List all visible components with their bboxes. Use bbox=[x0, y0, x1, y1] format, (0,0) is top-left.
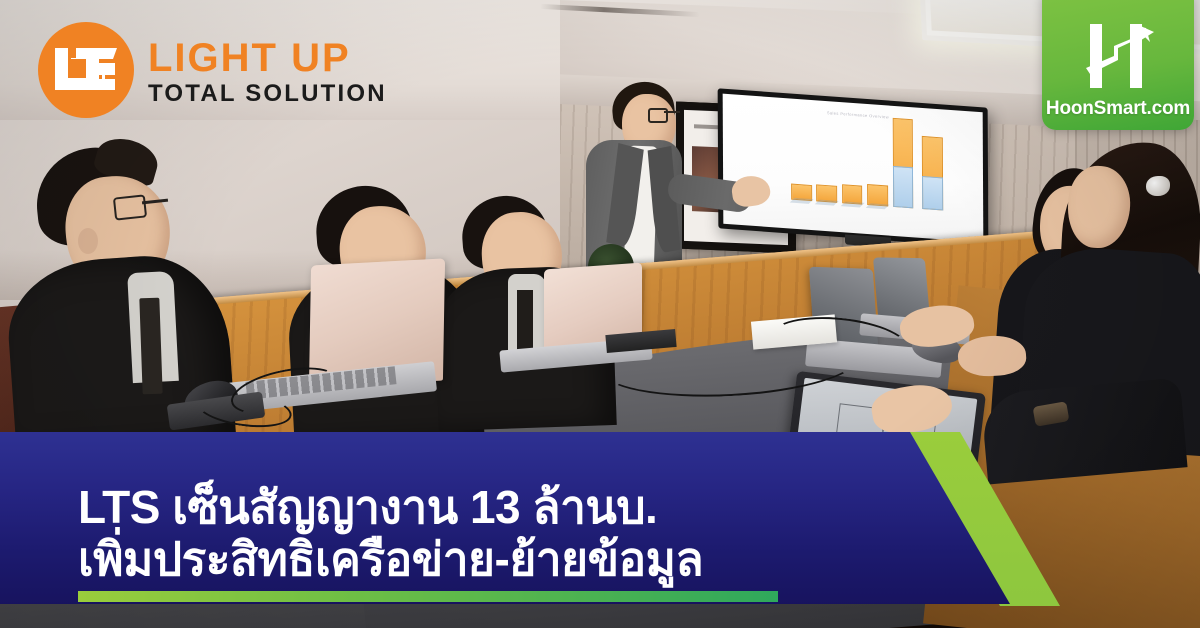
lts-title: LIGHT UP bbox=[148, 38, 387, 78]
bar-blue-5 bbox=[892, 166, 913, 209]
presenter-glasses bbox=[648, 108, 680, 120]
tv-bar-chart bbox=[790, 106, 972, 213]
lts-logo-circle bbox=[38, 22, 134, 118]
lts-monogram-icon bbox=[53, 46, 119, 94]
bar-orange-1 bbox=[791, 183, 812, 201]
bar-orange-3 bbox=[842, 184, 863, 205]
wall-mounted-tv: Sales Performance Overview bbox=[718, 88, 989, 247]
tv-screen: Sales Performance Overview bbox=[723, 94, 984, 243]
lts-light-up-logo: LIGHT UP TOTAL SOLUTION bbox=[38, 22, 387, 118]
bar-blue-6 bbox=[922, 176, 943, 211]
person1-ear bbox=[78, 228, 98, 254]
headline-banner: LTS เซ็นสัญญางาน 13 ล้านบ. เพิ่มประสิทธิ… bbox=[0, 432, 1040, 628]
lts-wordmark: LIGHT UP TOTAL SOLUTION bbox=[148, 34, 387, 106]
hoonsmart-h-arrow-icon bbox=[1076, 18, 1160, 96]
person1-tie bbox=[139, 298, 162, 395]
woman2-sleeve bbox=[980, 377, 1187, 484]
headline-line-1: LTS เซ็นสัญญางาน 13 ล้านบ. bbox=[78, 484, 958, 532]
headline-line-2: เพิ่มประสิทธิเครือข่าย-ย้ายข้อมูล bbox=[78, 536, 958, 584]
hoonsmart-wordmark: HoonSmart.com bbox=[1046, 98, 1190, 120]
headline-underline-bar bbox=[78, 591, 778, 602]
thumbnail-stage: Sales Performance Overview bbox=[0, 0, 1200, 628]
hoonsmart-logo[interactable]: HoonSmart.com bbox=[1042, 0, 1194, 130]
lts-subtitle: TOTAL SOLUTION bbox=[148, 82, 387, 106]
woman2-hair-clip bbox=[1146, 176, 1170, 196]
headline-text: LTS เซ็นสัญญางาน 13 ล้านบ. เพิ่มประสิทธิ… bbox=[78, 484, 958, 584]
bar-orange-2 bbox=[816, 184, 837, 203]
person1-glasses bbox=[114, 196, 168, 216]
bar-orange-4 bbox=[867, 184, 888, 207]
